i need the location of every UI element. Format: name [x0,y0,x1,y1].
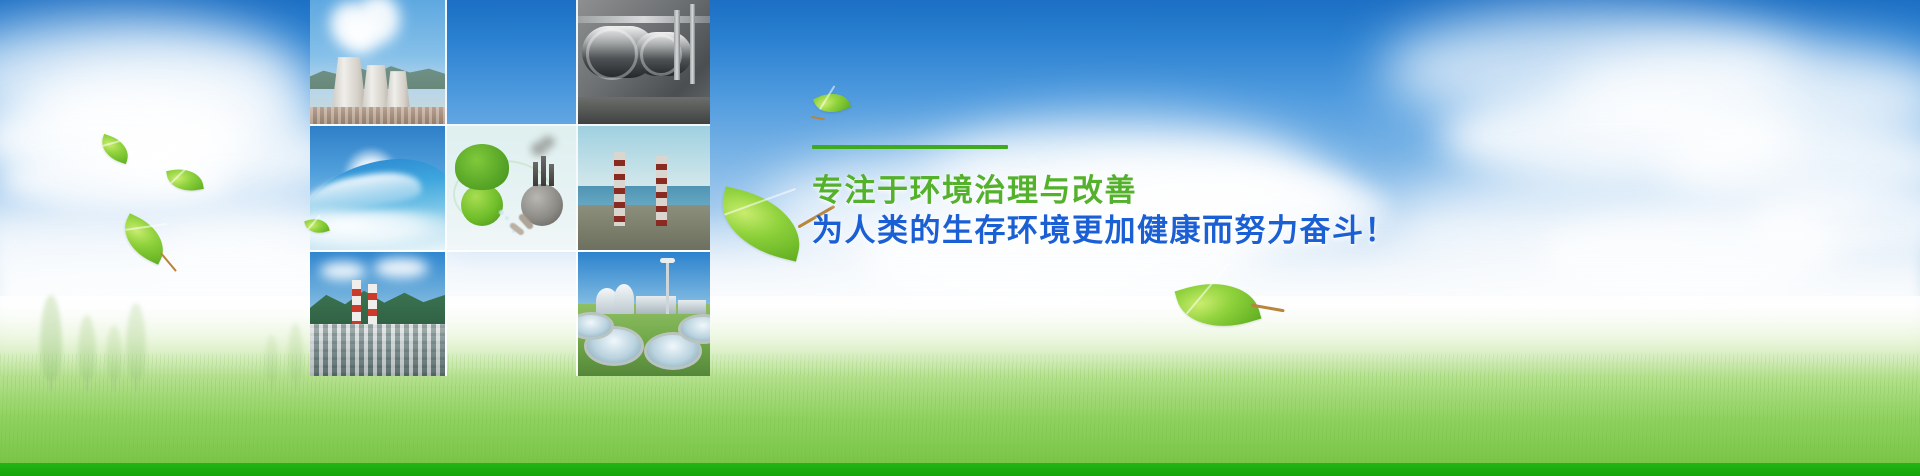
photo-collage [310,0,710,376]
bottom-green-bar [0,463,1920,476]
photo-gap [445,0,447,376]
photo-green-vs-grey [447,126,576,250]
photo-water-treatment [578,252,710,376]
photo-ocean-wave [310,126,445,250]
tree [265,335,278,381]
photo-cooling-towers [310,0,445,124]
tree [40,295,62,381]
tree [78,315,96,381]
photo-gap [576,0,578,376]
hero-banner: 专注于环境治理与改善 为人类的生存环境更加健康而努力奋斗！ [0,0,1920,476]
slogan-line-2: 为人类的生存环境更加健康而努力奋斗！ [812,211,1512,251]
tree [126,303,146,381]
photo-coastal-stacks [578,126,710,250]
slogan-block: 专注于环境治理与改善 为人类的生存环境更加健康而努力奋斗！ [812,145,1512,251]
slogan-line-1: 专注于环境治理与改善 [812,171,1512,211]
photo-gap [310,250,710,252]
photo-turbine [578,0,710,124]
tree [288,323,303,381]
photo-chemical-plant [310,252,445,376]
accent-rule [812,145,1008,149]
tree [106,325,122,381]
photo-gap [310,124,710,126]
